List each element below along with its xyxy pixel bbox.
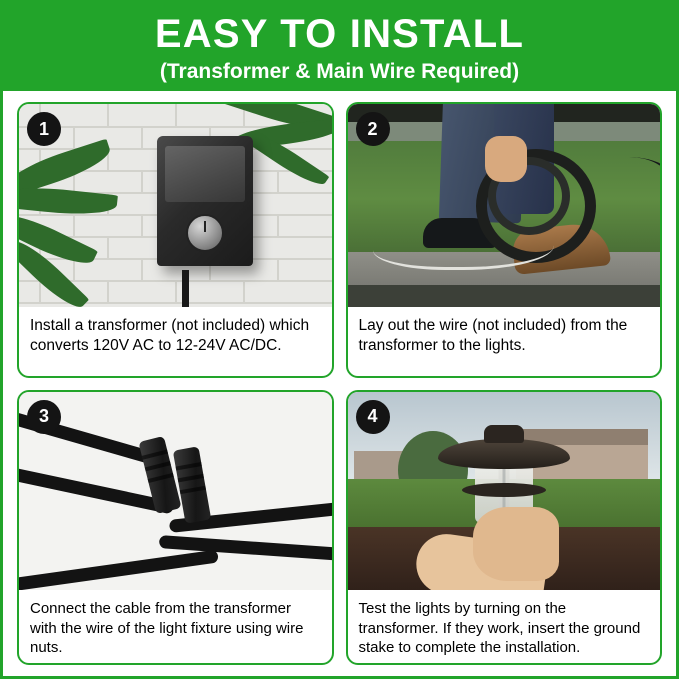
- step-card-2: 2 Lay out the wire (not included) from t…: [346, 102, 663, 378]
- step-number-badge: 2: [356, 112, 390, 146]
- step-3-photo: 3: [19, 392, 332, 591]
- step-4-photo: 4: [348, 392, 661, 591]
- step-1-photo: 1: [19, 104, 332, 307]
- steps-grid: 1 Install a transformer (not included) w…: [3, 91, 676, 679]
- step-number-badge: 1: [27, 112, 61, 146]
- header-banner: EASY TO INSTALL (Transformer & Main Wire…: [3, 3, 676, 91]
- power-cord: [182, 270, 299, 307]
- page-subtitle: (Transformer & Main Wire Required): [160, 61, 519, 82]
- transformer-dial: [186, 214, 224, 252]
- step-number-badge: 3: [27, 400, 61, 434]
- step-4-caption: Test the lights by turning on the transf…: [348, 590, 661, 663]
- step-3-caption: Connect the cable from the transformer w…: [19, 590, 332, 663]
- step-card-3: 3 Connect the cable from the transformer…: [17, 390, 334, 666]
- infographic-page: EASY TO INSTALL (Transformer & Main Wire…: [0, 0, 679, 679]
- light-lower-ring: [462, 483, 546, 497]
- page-title: EASY TO INSTALL: [155, 14, 524, 54]
- step-2-photo: 2: [348, 104, 661, 307]
- step-card-1: 1 Install a transformer (not included) w…: [17, 102, 334, 378]
- step-1-caption: Install a transformer (not included) whi…: [19, 307, 332, 376]
- transformer-device: [157, 136, 253, 266]
- light-shade-hat: [438, 439, 570, 469]
- step-card-4: 4 Test the lights by turning on the tran…: [346, 390, 663, 666]
- person-hand: [473, 507, 559, 581]
- step-2-caption: Lay out the wire (not included) from the…: [348, 307, 661, 376]
- step-number-badge: 4: [356, 400, 390, 434]
- palm-foliage-left: [19, 145, 133, 307]
- light-finial-cap: [484, 425, 524, 443]
- person-hand: [485, 136, 527, 182]
- walkway-shadow: [348, 285, 661, 307]
